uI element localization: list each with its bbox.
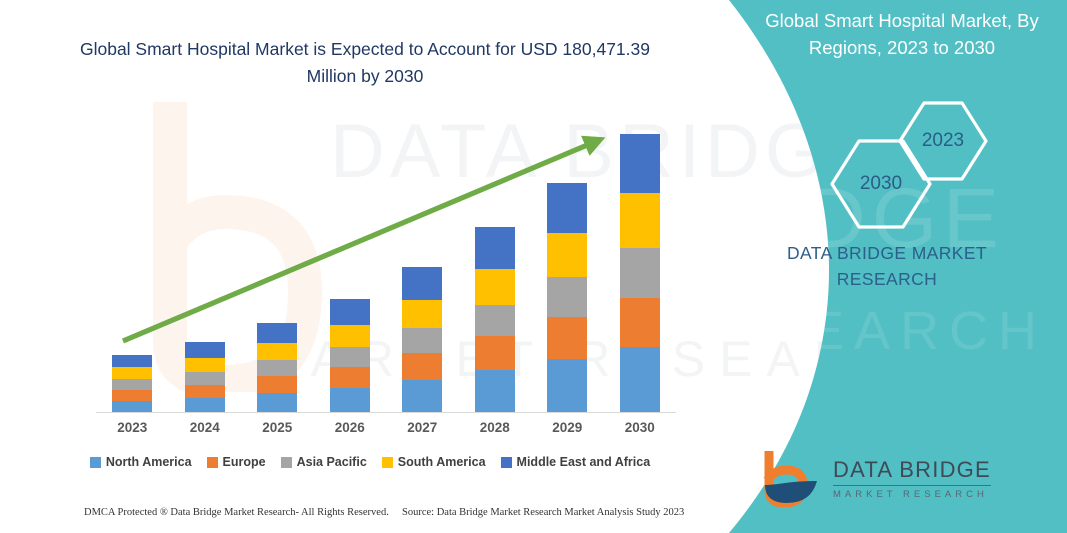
bar-segment[interactable] [547,233,587,277]
legend-swatch-icon [90,457,101,468]
bar-segment[interactable] [330,325,370,347]
bar-2026[interactable] [330,299,370,412]
legend-item-middle-east-and-africa[interactable]: Middle East and Africa [501,455,651,469]
bar-segment[interactable] [620,248,660,298]
bar-2024[interactable] [185,342,225,412]
bar-segment[interactable] [257,393,297,412]
bar-segment[interactable] [620,298,660,347]
bar-segment[interactable] [112,379,152,390]
bar-2030[interactable] [620,134,660,412]
bar-segment[interactable] [402,267,442,300]
brand-logo-title: DATA BRIDGE [833,457,991,486]
bar-segment[interactable] [330,299,370,325]
footer-copyright: DMCA Protected ® Data Bridge Market Rese… [84,507,389,518]
bar-2027[interactable] [402,267,442,412]
bar-segment[interactable] [257,360,297,376]
chart-legend: North AmericaEuropeAsia PacificSouth Ame… [60,455,680,469]
legend-item-europe[interactable]: Europe [207,455,266,469]
panel-title: Global Smart Hospital Market, By Regions… [749,8,1055,62]
bar-segment[interactable] [475,305,515,336]
panel-brand-text: DATA BRIDGE MARKET RESEARCH [737,240,1037,293]
x-axis-label-2027: 2027 [387,420,457,435]
bar-segment[interactable] [547,183,587,233]
bar-segment[interactable] [330,347,370,367]
bar-segment[interactable] [330,388,370,412]
hexagon-2023-label: 2023 [922,130,964,152]
footer: DMCA Protected ® Data Bridge Market Rese… [0,507,700,527]
brand-logo-text: DATA BRIDGE MARKET RESEARCH [833,457,991,500]
footer-source: Source: Data Bridge Market Research Mark… [402,507,684,518]
bar-segment[interactable] [112,390,152,401]
legend-label: Europe [223,455,266,469]
hexagon-group: 2023 2030 [825,100,1025,225]
bar-2028[interactable] [475,227,515,412]
bar-segment[interactable] [547,359,587,412]
hexagon-2030: 2030 [829,138,933,230]
bar-segment[interactable] [185,358,225,372]
chart-area: DATA BRIDGE MARKET RESEARCH Global Smart… [0,0,720,533]
bar-2023[interactable] [112,355,152,412]
legend-item-north-america[interactable]: North America [90,455,192,469]
bar-2025[interactable] [257,323,297,412]
bar-segment[interactable] [402,353,442,380]
legend-swatch-icon [382,457,393,468]
databridge-logo-icon [759,451,825,507]
bar-segment[interactable] [330,367,370,388]
plot-area [96,110,676,413]
bar-segment[interactable] [547,317,587,359]
bar-segment[interactable] [620,134,660,193]
x-axis-labels: 20232024202520262027202820292030 [96,420,676,444]
bar-segment[interactable] [475,269,515,305]
x-axis-label-2026: 2026 [315,420,385,435]
right-panel: BRIDGE RESEARCH Global Smart Hospital Ma… [707,0,1067,533]
legend-label: Asia Pacific [297,455,367,469]
bar-segment[interactable] [112,355,152,367]
bar-segment[interactable] [620,347,660,412]
legend-label: Middle East and Africa [517,455,651,469]
axis-baseline [96,412,676,413]
x-axis-label-2028: 2028 [460,420,530,435]
bar-segment[interactable] [257,376,297,393]
brand-logo: DATA BRIDGE MARKET RESEARCH [733,449,1033,511]
legend-swatch-icon [207,457,218,468]
brand-logo-subtitle: MARKET RESEARCH [833,489,991,500]
legend-swatch-icon [281,457,292,468]
bar-segment[interactable] [185,342,225,358]
bar-segment[interactable] [402,328,442,353]
x-axis-label-2030: 2030 [605,420,675,435]
legend-swatch-icon [501,457,512,468]
x-axis-label-2025: 2025 [242,420,312,435]
bar-segment[interactable] [185,372,225,385]
bar-segment[interactable] [475,336,515,370]
bar-segment[interactable] [620,193,660,248]
hexagon-2030-label: 2030 [860,173,902,195]
bar-segment[interactable] [112,401,152,412]
bar-segment[interactable] [257,343,297,360]
x-axis-label-2024: 2024 [170,420,240,435]
x-axis-label-2023: 2023 [97,420,167,435]
legend-item-asia-pacific[interactable]: Asia Pacific [281,455,367,469]
bar-segment[interactable] [257,323,297,343]
legend-item-south-america[interactable]: South America [382,455,486,469]
infographic-root: DATA BRIDGE MARKET RESEARCH Global Smart… [0,0,1067,533]
bar-segment[interactable] [402,300,442,328]
page-title: Global Smart Hospital Market is Expected… [60,36,670,90]
bar-segment[interactable] [475,370,515,412]
legend-label: North America [106,455,192,469]
bar-segment[interactable] [185,385,225,398]
bar-segment[interactable] [402,380,442,412]
bar-segment[interactable] [112,367,152,379]
legend-label: South America [398,455,486,469]
bar-segment[interactable] [475,227,515,269]
x-axis-label-2029: 2029 [532,420,602,435]
bar-segment[interactable] [185,398,225,412]
bar-segment[interactable] [547,277,587,317]
bar-2029[interactable] [547,183,587,412]
